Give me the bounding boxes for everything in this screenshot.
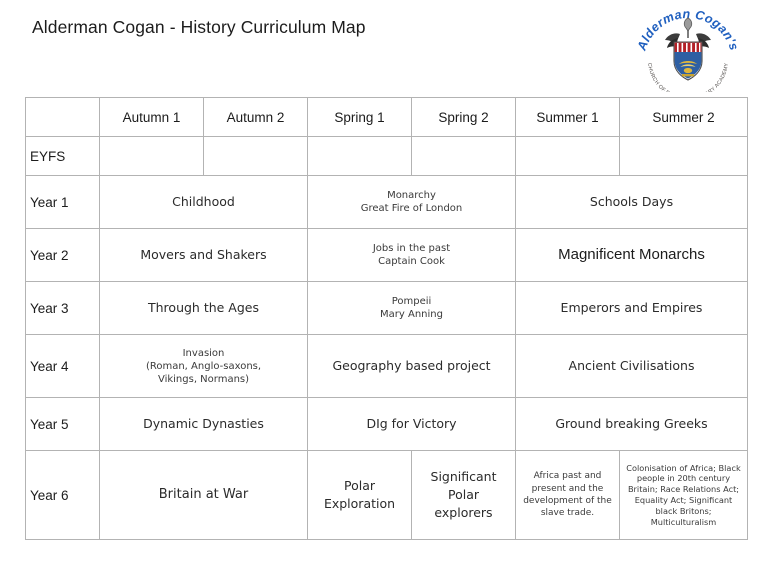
cell-eyfs-autumn-2 <box>204 137 308 176</box>
table-row-year-1: Year 1 Childhood MonarchyGreat Fire of L… <box>26 176 748 229</box>
table-row-year-2: Year 2 Movers and Shakers Jobs in the pa… <box>26 229 748 282</box>
cell-year-1-spring: MonarchyGreat Fire of London <box>308 176 516 229</box>
cell-year-4-spring: Geography based project <box>308 335 516 398</box>
cell-year-3-autumn: Through the Ages <box>100 282 308 335</box>
cell-year-2-spring: Jobs in the pastCaptain Cook <box>308 229 516 282</box>
cell-year-6-autumn: Britain at War <box>100 451 308 540</box>
cell-year-5-spring: DIg for Victory <box>308 398 516 451</box>
cell-year-2-autumn: Movers and Shakers <box>100 229 308 282</box>
cell-year-5-autumn: Dynamic Dynasties <box>100 398 308 451</box>
cell-eyfs-summer-2 <box>620 137 748 176</box>
history-curriculum-map-table: Autumn 1 Autumn 2 Spring 1 Spring 2 Summ… <box>25 97 748 540</box>
table-header-row: Autumn 1 Autumn 2 Spring 1 Spring 2 Summ… <box>26 98 748 137</box>
cell-eyfs-spring-2 <box>412 137 516 176</box>
column-header-spring-2: Spring 2 <box>412 98 516 137</box>
cell-year-5-summer: Ground breaking Greeks <box>516 398 748 451</box>
cell-year-6-spring-1: PolarExploration <box>308 451 412 540</box>
column-header-summer-2: Summer 2 <box>620 98 748 137</box>
cell-eyfs-spring-1 <box>308 137 412 176</box>
column-header-spring-1: Spring 1 <box>308 98 412 137</box>
row-label-year-3: Year 3 <box>26 282 100 335</box>
row-label-year-4: Year 4 <box>26 335 100 398</box>
column-header-summer-1: Summer 1 <box>516 98 620 137</box>
table-row-eyfs: EYFS <box>26 137 748 176</box>
page-title: Alderman Cogan - History Curriculum Map <box>32 17 366 38</box>
crest-shield <box>674 42 702 80</box>
row-label-year-1: Year 1 <box>26 176 100 229</box>
cell-year-3-summer: Emperors and Empires <box>516 282 748 335</box>
row-label-year-2: Year 2 <box>26 229 100 282</box>
cell-year-1-summer: Schools Days <box>516 176 748 229</box>
cell-eyfs-autumn-1 <box>100 137 204 176</box>
table-row-year-5: Year 5 Dynamic Dynasties DIg for Victory… <box>26 398 748 451</box>
cell-year-3-spring: PompeiiMary Anning <box>308 282 516 335</box>
cell-year-4-summer: Ancient Civilisations <box>516 335 748 398</box>
table-row-year-4: Year 4 Invasion(Roman, Anglo-saxons,Viki… <box>26 335 748 398</box>
cell-year-1-autumn: Childhood <box>100 176 308 229</box>
table-row-year-3: Year 3 Through the Ages PompeiiMary Anni… <box>26 282 748 335</box>
row-label-year-6: Year 6 <box>26 451 100 540</box>
column-header-autumn-1: Autumn 1 <box>100 98 204 137</box>
column-header-autumn-2: Autumn 2 <box>204 98 308 137</box>
row-label-year-5: Year 5 <box>26 398 100 451</box>
cell-year-6-summer-2: Colonisation of Africa; Black people in … <box>620 451 748 540</box>
cell-year-6-summer-1: Africa past and present and the developm… <box>516 451 620 540</box>
row-label-eyfs: EYFS <box>26 137 100 176</box>
header-corner-cell <box>26 98 100 137</box>
cell-year-2-summer: Magnificent Monarchs <box>516 229 748 282</box>
cell-eyfs-summer-1 <box>516 137 620 176</box>
cell-year-4-autumn: Invasion(Roman, Anglo-saxons,Vikings, No… <box>100 335 308 398</box>
cell-year-6-spring-2: SignificantPolarexplorers <box>412 451 516 540</box>
page-header: Alderman Cogan - History Curriculum Map … <box>0 0 768 92</box>
table-row-year-6: Year 6 Britain at War PolarExploration S… <box>26 451 748 540</box>
school-crest-logo: Alderman Cogan's CHURCH OF ENGLAND PRIMA… <box>634 4 742 92</box>
